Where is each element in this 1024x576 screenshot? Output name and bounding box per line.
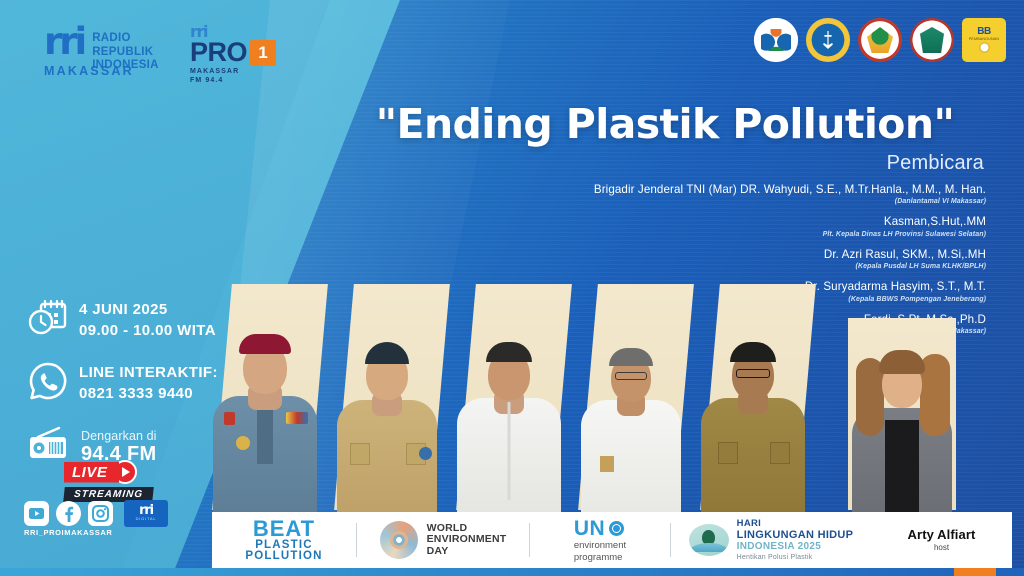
speaker-photo bbox=[328, 310, 446, 520]
speaker-role: (Kepala Pusdal LH Suma KLHK/BPLH) bbox=[426, 263, 986, 270]
phone-text: LINE INTERAKTIF: 0821 3333 9440 bbox=[79, 363, 218, 404]
world-environment-day-logo: WORLD ENVIRONMENT DAY bbox=[357, 512, 529, 568]
whatsapp-phone-icon bbox=[28, 361, 68, 406]
host-name: Arty Alfiart bbox=[908, 527, 976, 543]
speaker-photo bbox=[206, 310, 324, 520]
datetime-row: 4 JUNI 2025 09.00 - 10.00 WITA bbox=[28, 300, 228, 341]
wed-mark-icon bbox=[380, 521, 418, 559]
pro1-logo: rri PRO 1 MAKASSAR FM 94.4 bbox=[190, 26, 276, 80]
wed-line2: ENVIRONMENT bbox=[427, 534, 507, 545]
rri-wordmark: rri bbox=[44, 28, 84, 56]
social-links[interactable]: rri DIGITAL bbox=[24, 500, 168, 527]
pro1-number-badge: 1 bbox=[250, 40, 276, 66]
phone-row: LINE INTERAKTIF: 0821 3333 9440 bbox=[28, 361, 228, 406]
speaker-item: Kasman,S.Hut,.MM Plt. Kepala Dinas LH Pr… bbox=[426, 215, 986, 237]
poster-canvas: rri RADIO REPUBLIK INDONESIA MAKASSAR rr… bbox=[0, 0, 1024, 576]
rri-city-label: MAKASSAR bbox=[44, 64, 134, 78]
pro1-subtitle: MAKASSAR FM 94.4 bbox=[190, 68, 276, 86]
pro1-city: MAKASSAR bbox=[190, 68, 276, 77]
speaker-photo bbox=[450, 310, 568, 520]
rri-digital-mark: rri bbox=[139, 506, 153, 516]
rri-fullname-line1: RADIO bbox=[92, 32, 159, 46]
un-title: UN bbox=[574, 517, 605, 540]
hlh-tree-icon bbox=[689, 524, 729, 556]
hlh-line4: Hentikan Polusi Plastik bbox=[737, 554, 854, 562]
un-sub1: environment bbox=[574, 540, 626, 551]
host-role: host bbox=[908, 543, 976, 553]
hari-lingkungan-hidup-logo: HARI LINGKUNGAN HIDUP INDONESIA 2025 Hen… bbox=[671, 512, 871, 568]
facebook-icon[interactable] bbox=[56, 501, 81, 526]
bottom-accent-orange bbox=[954, 568, 996, 576]
speaker-name: Brigadir Jenderal TNI (Mar) DR. Wahyudi,… bbox=[426, 183, 986, 197]
event-info-panel: 4 JUNI 2025 09.00 - 10.00 WITA LINE INTE… bbox=[28, 300, 228, 487]
listen-label: Dengarkan di bbox=[81, 429, 157, 443]
sulawesi-selatan-emblem bbox=[858, 18, 902, 62]
institution-emblems: BBPEMBANGUNAN bbox=[754, 18, 1006, 62]
datetime-text: 4 JUNI 2025 09.00 - 10.00 WITA bbox=[79, 300, 216, 341]
hlh-line1: HARI bbox=[737, 519, 854, 530]
speakers-heading: Pembicara bbox=[887, 152, 984, 175]
speakers-photo-strip bbox=[212, 284, 1024, 520]
rri-fullname-line2: REPUBLIK bbox=[92, 46, 159, 60]
live-streaming-badge: LIVE STREAMING bbox=[64, 460, 174, 502]
beat-line1: BEAT bbox=[245, 518, 322, 540]
rri-digital-sub: DIGITAL bbox=[136, 516, 157, 521]
wed-line3: DAY bbox=[427, 546, 507, 557]
un-globe-icon bbox=[609, 521, 624, 536]
instagram-icon[interactable] bbox=[88, 501, 113, 526]
speaker-name: Kasman,S.Hut,.MM bbox=[426, 215, 986, 229]
campaign-banner: BEAT PLASTIC POLLUTION WORLD ENVIRONMENT… bbox=[212, 512, 1012, 568]
beat-line3: POLLUTION bbox=[245, 551, 322, 563]
calendar-clock-icon bbox=[28, 300, 68, 341]
bottom-accent-strip bbox=[0, 568, 1024, 576]
un-sub2: programme bbox=[574, 552, 626, 563]
youtube-icon[interactable] bbox=[24, 501, 49, 526]
tni-al-emblem bbox=[806, 18, 850, 62]
bbws-emblem: BBPEMBANGUNAN bbox=[962, 18, 1006, 62]
host-credit: Arty Alfiart host bbox=[871, 512, 1012, 568]
rri-digital-badge: rri DIGITAL bbox=[124, 500, 168, 527]
beat-plastic-pollution-logo: BEAT PLASTIC POLLUTION bbox=[212, 512, 356, 568]
speaker-photo bbox=[572, 310, 690, 520]
social-handle: RRI_PROIMAKASSAR bbox=[24, 528, 112, 537]
speaker-item: Brigadir Jenderal TNI (Mar) DR. Wahyudi,… bbox=[426, 183, 986, 205]
speaker-item: Dr. Azri Rasul, SKM., M.Si,.MH (Kepala P… bbox=[426, 248, 986, 270]
pro1-frequency: FM 94.4 bbox=[190, 77, 276, 86]
live-label: LIVE bbox=[64, 462, 119, 483]
host-photo bbox=[840, 328, 964, 520]
kota-makassar-emblem bbox=[910, 18, 954, 62]
phone-number: 0821 3333 9440 bbox=[79, 384, 218, 404]
page-title: "Ending Plastik Pollution" bbox=[330, 103, 1000, 146]
speaker-name: Dr. Azri Rasul, SKM., M.Si,.MH bbox=[426, 248, 986, 262]
phone-label: LINE INTERAKTIF: bbox=[79, 363, 218, 383]
event-time: 09.00 - 10.00 WITA bbox=[79, 321, 216, 341]
pro1-text: PRO bbox=[190, 40, 247, 66]
speaker-photo bbox=[694, 310, 812, 520]
speaker-role: Plt. Kepala Dinas LH Provinsi Sulawesi S… bbox=[426, 231, 986, 238]
speaker-role: (Danlantamal VI Makassar) bbox=[426, 198, 986, 205]
klhk-emblem bbox=[754, 18, 798, 62]
event-date: 4 JUNI 2025 bbox=[79, 300, 216, 320]
hlh-line3: INDONESIA 2025 bbox=[737, 541, 854, 552]
hlh-line2: LINGKUNGAN HIDUP bbox=[737, 529, 854, 541]
unep-logo: UN environment programme bbox=[530, 512, 670, 568]
